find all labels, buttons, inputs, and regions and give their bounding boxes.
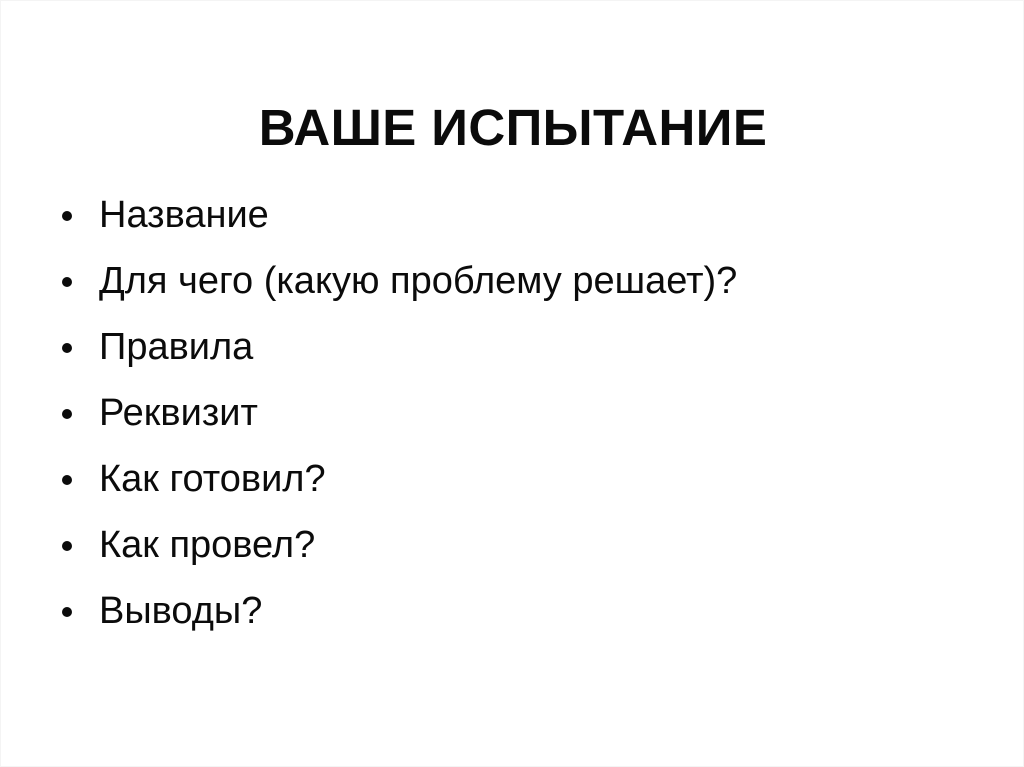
bullet-dot-icon [62, 277, 72, 287]
list-item-label: Правила [99, 327, 253, 368]
bullet-dot-icon [62, 409, 72, 419]
list-item-label: Как провел? [99, 525, 315, 566]
list-item: Реквизит [53, 381, 983, 447]
list-item-label: Как готовил? [99, 459, 326, 500]
list-item: Для чего (какую проблему решает)? [53, 249, 983, 315]
bullet-dot-icon [62, 343, 72, 353]
list-item-label: Реквизит [99, 393, 258, 434]
list-item: Выводы? [53, 579, 983, 645]
list-item-label: Для чего (какую проблему решает)? [99, 261, 737, 302]
bullet-list: Название Для чего (какую проблему решает… [53, 183, 983, 645]
slide-content-body: Название Для чего (какую проблему решает… [53, 183, 983, 645]
list-item: Правила [53, 315, 983, 381]
bullet-dot-icon [62, 541, 72, 551]
list-item: Как провел? [53, 513, 983, 579]
list-item: Как готовил? [53, 447, 983, 513]
bullet-dot-icon [62, 475, 72, 485]
bullet-dot-icon [62, 607, 72, 617]
list-item: Название [53, 183, 983, 249]
page-title: ВАШЕ ИСПЫТАНИЕ [1, 99, 1024, 156]
list-item-label: Название [99, 195, 269, 236]
list-item-label: Выводы? [99, 591, 262, 632]
slide-canvas: ВАШЕ ИСПЫТАНИЕ Название Для чего (какую … [0, 0, 1024, 767]
bullet-dot-icon [62, 211, 72, 221]
